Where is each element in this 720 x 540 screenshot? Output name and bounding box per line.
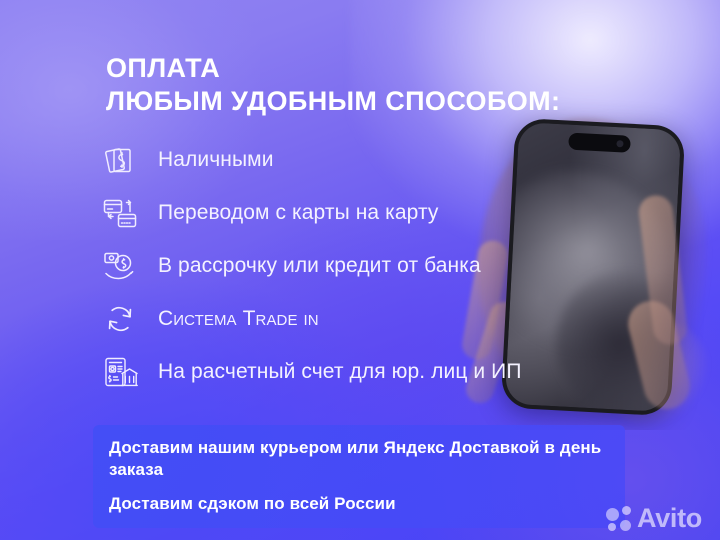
avito-watermark: Avito bbox=[606, 505, 702, 532]
hand-money-icon bbox=[100, 246, 140, 286]
list-item-label: На расчетный счет для юр. лиц и ИП bbox=[158, 360, 522, 384]
headline-line-1: ОПЛАТА bbox=[106, 52, 560, 85]
avito-dots-logo-icon bbox=[606, 506, 633, 532]
page-title: ОПЛАТА ЛЮБЫМ УДОБНЫМ СПОСОБОМ: bbox=[106, 52, 560, 118]
list-item: В рассрочку или кредит от банка bbox=[100, 239, 522, 292]
promo-banner: ОПЛАТА ЛЮБЫМ УДОБНЫМ СПОСОБОМ: Наличными bbox=[0, 0, 720, 540]
payment-methods-list: Наличными Переводом с карты на карту bbox=[100, 133, 522, 398]
list-item: Система Trade in bbox=[100, 292, 522, 345]
delivery-line-1: Доставим нашим курьером или Яндекс Доста… bbox=[109, 437, 609, 481]
delivery-banner: Доставим нашим курьером или Яндекс Доста… bbox=[93, 425, 625, 528]
exchange-arrows-icon bbox=[100, 299, 140, 339]
front-camera-icon bbox=[616, 140, 623, 147]
headline-line-2: ЛЮБЫМ УДОБНЫМ СПОСОБОМ: bbox=[106, 85, 560, 118]
list-item: Переводом с карты на карту bbox=[100, 186, 522, 239]
list-item-label: Система Trade in bbox=[158, 307, 319, 331]
dynamic-island bbox=[568, 133, 631, 153]
list-item: Наличными bbox=[100, 133, 522, 186]
list-item-label: Переводом с карты на карту bbox=[158, 201, 439, 225]
card-transfer-icon bbox=[100, 193, 140, 233]
list-item-label: Наличными bbox=[158, 148, 274, 172]
list-item: На расчетный счет для юр. лиц и ИП bbox=[100, 345, 522, 398]
list-item-label: В рассрочку или кредит от банка bbox=[158, 254, 481, 278]
banknotes-icon bbox=[100, 140, 140, 180]
avito-brand-text: Avito bbox=[637, 505, 702, 532]
invoice-bank-icon bbox=[100, 352, 140, 392]
delivery-line-2: Доставим сдэком по всей России bbox=[109, 493, 609, 515]
